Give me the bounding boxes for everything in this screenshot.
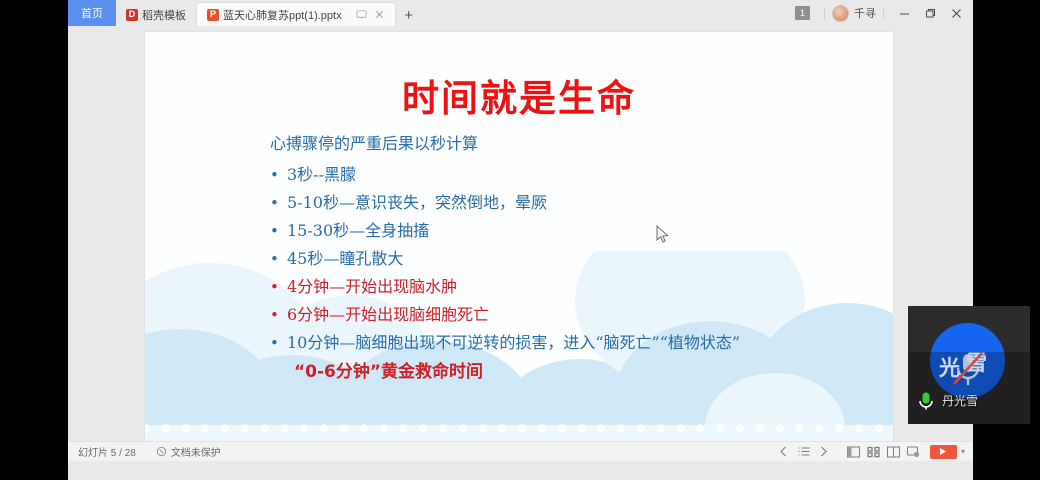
wps-presentation-window: 首页 稻壳模板 蓝天心肺复苏ppt(1).pptx — [68, 0, 973, 480]
decor-dot — [399, 424, 407, 433]
slide-lead-text: 心搏骤停的严重后果以秒计算 — [270, 132, 880, 156]
close-button[interactable] — [943, 1, 969, 25]
decor-dot — [756, 424, 764, 433]
decor-dot — [380, 424, 388, 433]
bullet-text: 3秒--黑朦 — [287, 161, 880, 189]
bullet-marker: • — [270, 217, 287, 245]
new-tab-label: + — [404, 7, 413, 24]
decor-dot — [637, 424, 645, 433]
slide-canvas[interactable]: 时间就是生命 心搏骤停的严重后果以秒计算 •3秒--黑朦•5-10秒—意识丧失，… — [68, 26, 973, 461]
close-tab-icon[interactable] — [374, 9, 385, 20]
bullet-text: 10分钟—脑细胞出现不可逆转的损害，进入“脑死亡”“植物状态” — [287, 329, 880, 357]
avatar[interactable] — [832, 5, 849, 22]
decor-dot — [340, 424, 348, 433]
decor-dot — [439, 424, 447, 433]
decor-dot — [597, 424, 605, 433]
bullet-item: •10分钟—脑细胞出现不可逆转的损害，进入“脑死亡”“植物状态” — [270, 329, 880, 357]
play-options-caret[interactable]: ▾ — [961, 447, 965, 456]
restore-button[interactable] — [917, 1, 943, 25]
tab-docer-template[interactable]: 稻壳模板 — [116, 4, 196, 26]
decor-dot — [518, 424, 526, 433]
start-slideshow-button[interactable] — [930, 445, 957, 459]
normal-view-icon[interactable] — [844, 442, 864, 461]
decor-dot — [578, 424, 586, 433]
decor-dot — [795, 424, 803, 433]
decor-dot — [479, 424, 487, 433]
slide-title: 时间就是生命 — [145, 68, 893, 122]
decor-dot — [558, 424, 566, 433]
minimize-button[interactable] — [891, 1, 917, 25]
monitor-icon[interactable] — [356, 9, 367, 20]
divider — [883, 7, 884, 20]
bullet-item: •45秒—瞳孔散大 — [270, 245, 880, 273]
bullet-list: •3秒--黑朦•5-10秒—意识丧失，突然倒地，晕厥•15-30秒—全身抽搐•4… — [270, 161, 880, 357]
slide-highlight: “0-6分钟”黄金救命时间 — [294, 357, 880, 387]
decor-dot — [320, 424, 328, 433]
tab-strip: 首页 稻壳模板 蓝天心肺复苏ppt(1).pptx — [68, 0, 422, 26]
tab-docer-label: 稻壳模板 — [142, 7, 186, 23]
slide-counter-label: 幻灯片 5 / 28 — [78, 444, 136, 459]
decor-dot — [241, 424, 249, 433]
bullet-marker: • — [270, 301, 287, 329]
decor-dot — [875, 424, 883, 433]
bullet-item: •6分钟—开始出现脑细胞死亡 — [270, 301, 880, 329]
tab-document[interactable]: 蓝天心肺复苏ppt(1).pptx — [196, 2, 396, 26]
decor-dot — [221, 424, 229, 433]
status-bar-right: ▾ — [774, 442, 973, 461]
slide-body: 心搏骤停的严重后果以秒计算 •3秒--黑朦•5-10秒—意识丧失，突然倒地，晕厥… — [270, 132, 880, 387]
title-bar-right: 1 千寻 — [795, 0, 973, 26]
decor-dot — [657, 424, 665, 433]
new-tab-button[interactable]: + — [396, 4, 422, 26]
mouse-cursor-icon — [656, 225, 670, 244]
bullet-text: 4分钟—开始出现脑水肿 — [287, 273, 880, 301]
protection-status[interactable]: 文档未保护 — [146, 442, 231, 461]
dot-row — [145, 424, 893, 434]
mic-status-icon[interactable] — [918, 391, 934, 411]
title-bar: 首页 稻壳模板 蓝天心肺复苏ppt(1).pptx — [68, 0, 973, 26]
next-slide-button[interactable] — [814, 442, 834, 461]
protection-label: 文档未保护 — [171, 444, 221, 459]
decor-dot — [182, 424, 190, 433]
decor-dot — [677, 424, 685, 433]
bullet-marker: • — [270, 329, 287, 357]
decor-dot — [162, 424, 170, 433]
bullet-marker: • — [270, 161, 287, 189]
reading-view-icon[interactable] — [884, 442, 904, 461]
bullet-text: 45秒—瞳孔散大 — [287, 245, 880, 273]
letterbox-left — [0, 0, 68, 480]
docer-icon — [126, 9, 138, 21]
screen-root: 首页 稻壳模板 蓝天心肺复苏ppt(1).pptx — [0, 0, 1040, 480]
outline-list-icon[interactable] — [794, 442, 814, 461]
bullet-item: •5-10秒—意识丧失，突然倒地，晕厥 — [270, 189, 880, 217]
slide-surface[interactable]: 时间就是生命 心搏骤停的严重后果以秒计算 •3秒--黑朦•5-10秒—意识丧失，… — [145, 32, 893, 451]
notification-badge[interactable]: 1 — [795, 6, 810, 20]
decor-dot — [696, 424, 704, 433]
decor-dot — [419, 424, 427, 433]
bullet-item: •15-30秒—全身抽搐 — [270, 217, 880, 245]
tab-document-label: 蓝天心肺复苏ppt(1).pptx — [223, 7, 342, 23]
microphone-muted-icon — [951, 350, 985, 390]
bullet-marker: • — [270, 189, 287, 217]
bullet-text: 6分钟—开始出现脑细胞死亡 — [287, 301, 880, 329]
divider — [824, 7, 825, 20]
decor-dot — [736, 424, 744, 433]
decor-dot — [498, 424, 506, 433]
user-name: 千寻 — [854, 5, 876, 21]
slide-sorter-icon[interactable] — [864, 442, 884, 461]
bullet-marker: • — [270, 273, 287, 301]
decor-dot — [300, 424, 308, 433]
bullet-item: •3秒--黑朦 — [270, 161, 880, 189]
bullet-marker: • — [270, 245, 287, 273]
decor-dot — [776, 424, 784, 433]
slide-counter[interactable]: 幻灯片 5 / 28 — [68, 442, 146, 461]
decor-dot — [617, 424, 625, 433]
notes-view-icon[interactable] — [904, 442, 924, 461]
bullet-text: 5-10秒—意识丧失，突然倒地，晕厥 — [287, 189, 880, 217]
decor-dot — [459, 424, 467, 433]
powerpoint-icon — [207, 9, 219, 21]
notification-count: 1 — [800, 8, 805, 18]
decor-dot — [538, 424, 546, 433]
tab-home-label: 首页 — [81, 5, 103, 21]
decor-dot — [716, 424, 724, 433]
shield-icon — [156, 446, 167, 457]
tab-home[interactable]: 首页 — [68, 0, 116, 26]
decor-dot — [201, 424, 209, 433]
decor-dot — [261, 424, 269, 433]
participant-name: 丹光雪 — [942, 392, 978, 409]
webcam-tile[interactable]: 光 雪 丹光雪 — [908, 306, 1030, 424]
decor-dot — [360, 424, 368, 433]
decor-dot — [145, 424, 150, 433]
decor-dot — [281, 424, 289, 433]
status-bar: 幻灯片 5 / 28 文档未保护 — [68, 441, 973, 461]
prev-slide-button[interactable] — [774, 442, 794, 461]
decor-dot — [835, 424, 843, 433]
bullet-item: •4分钟—开始出现脑水肿 — [270, 273, 880, 301]
bullet-text: 15-30秒—全身抽搐 — [287, 217, 880, 245]
decor-dot — [815, 424, 823, 433]
decor-dot — [855, 424, 863, 433]
